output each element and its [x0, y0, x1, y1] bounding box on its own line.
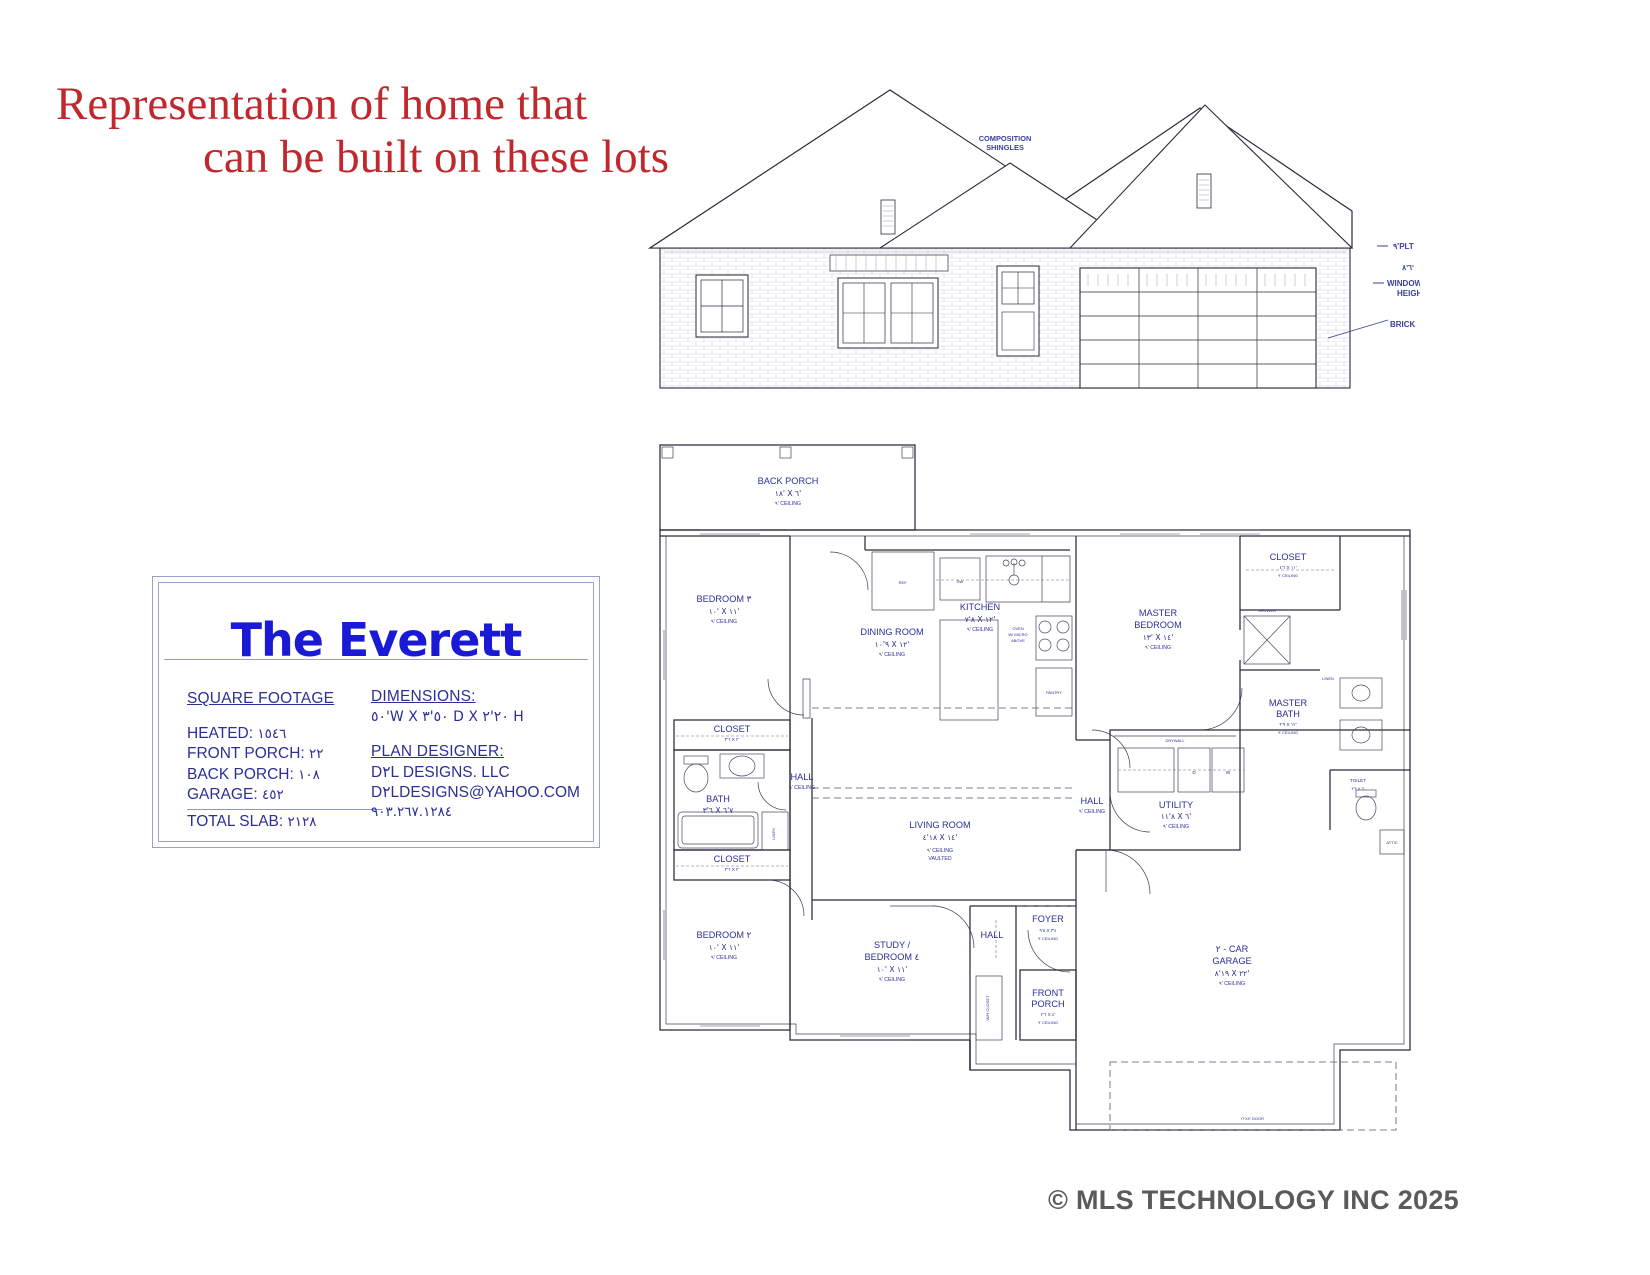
room-name-hall-mid: HALL: [981, 930, 1004, 940]
room-toilet: TOILET ٣'٣ X ٦': [1330, 770, 1410, 830]
room-back-porch: BACK PORCH ١٨' X ٦' ٩' CEILING: [660, 445, 915, 530]
room-name-hall-left: HALL: [791, 772, 814, 782]
window-left-icon: [696, 275, 748, 337]
room-utility: DRYWALL D W UTILITY ٨'١١ X ٦' ٩' CEILING: [1110, 730, 1244, 850]
room-name-study-l1: STUDY /: [874, 940, 911, 950]
room-front-porch: FRONT PORCH ٦'٢ X ٤' ٩' CEILING: [1020, 970, 1076, 1040]
room-dim-bedroom-2: ١٠' X ١١': [709, 943, 740, 952]
room-ceiling-hall-right: ٩' CEILING: [1079, 809, 1105, 815]
garage-door-label: ١٦'X٧' DOOR: [1240, 1116, 1264, 1121]
pantry-closet: PANTRY: [1036, 668, 1072, 716]
room-name-front-porch-l2: PORCH: [1031, 999, 1064, 1009]
room-ceiling-study: ٩' CEILING: [879, 977, 905, 983]
room-name-garage-l2: GARAGE: [1212, 956, 1251, 966]
area-value-heated: ١٥٤٦: [257, 726, 286, 742]
wh-closet: W/H CLOSET: [976, 976, 1002, 1040]
room-dim-mbath: ٩'٣ X ١٢': [1279, 722, 1296, 727]
mls-watermark: © MLS TECHNOLOGY INC 2025: [1048, 1185, 1459, 1216]
floor-plan-drawing: BACK PORCH ١٨' X ٦' ٩' CEILING BEDROOM ٣…: [640, 430, 1430, 1175]
square-footage-header: SQUARE FOOTAGE: [187, 689, 382, 710]
room-name-study-l2: BEDROOM ٤: [865, 952, 920, 962]
dimensions-header: DIMENSIONS:: [371, 687, 601, 708]
room-dim-toilet: ٣'٣ X ٦': [1352, 786, 1365, 791]
room-hall-mid: HALL: [970, 906, 1016, 1070]
room-name-closet-bottom: CLOSET: [714, 854, 751, 864]
room-name-closet-top: CLOSET: [714, 724, 751, 734]
plate-height-annotation: ٩'PLT: [1377, 242, 1414, 251]
shower-fixture: SHOWER: [1244, 608, 1290, 664]
area-row-front-porch: FRONT PORCH: ٢٢: [187, 744, 382, 765]
room-name-master-l1: MASTER: [1139, 608, 1178, 618]
window-header-band: [830, 255, 948, 271]
plan-designer-header: PLAN DESIGNER:: [371, 742, 601, 763]
room-master-bath: MASTER BATH ٩'٣ X ١٢' ٩' CEILING LINEN: [1240, 670, 1410, 750]
room-name-hall-right: HALL: [1081, 796, 1104, 806]
room-name-kitchen: KITCHEN: [960, 602, 1000, 612]
room-dim-bath: ٦'٣ X ٧'٦: [703, 806, 734, 815]
room-name-bath: BATH: [706, 794, 730, 804]
room-foyer: FOYER ٥'٩ X ٤'٣ ٩' CEILING: [1016, 906, 1076, 972]
designer-company: D٢L DESIGNS. LLC: [371, 763, 601, 784]
shingles-label-line-2: SHINGLES: [986, 143, 1024, 152]
washer-label: W: [1226, 770, 1231, 775]
room-kitchen: REF. DW KITCHEN ٨'٧ X ١٢' ٩' CEILING OVE…: [830, 536, 1072, 716]
room-ceiling-garage: ٩' CEILING: [1219, 981, 1245, 987]
room-ceiling-living-l1: ٩' CEILING: [927, 848, 953, 854]
area-label-heated: HEATED:: [187, 725, 253, 742]
designer-email: D٢LDESIGNS@YAHOO.COM: [371, 783, 601, 804]
room-name-toilet: TOILET: [1350, 778, 1366, 783]
square-footage-column: SQUARE FOOTAGE HEATED: ١٥٤٦ FRONT PORCH:…: [187, 689, 382, 833]
dishwasher-label: DW: [957, 579, 964, 584]
room-ceiling-living-l2: VAULTED: [928, 856, 951, 862]
room-name-front-porch-l1: FRONT: [1032, 988, 1064, 998]
dryer-label: D: [1192, 770, 1196, 775]
room-ceiling-mbath: ٩' CEILING: [1278, 730, 1298, 735]
room-ceiling-front-porch: ٩' CEILING: [1038, 1020, 1058, 1025]
window-height-label-line-1: WINDOW: [1387, 279, 1420, 288]
room-name-foyer: FOYER: [1032, 914, 1064, 924]
area-row-total-slab: TOTAL SLAB: ٢١٢٨: [187, 809, 382, 833]
shower-label: SHOWER: [1258, 608, 1276, 613]
room-ceiling-bedroom-2: ٩' CEILING: [711, 955, 737, 961]
room-name-bedroom-3: BEDROOM ٣: [697, 594, 752, 604]
area-value-garage: ٤٥٢: [262, 787, 284, 803]
room-ceiling-bedroom-3: ٩' CEILING: [711, 619, 737, 625]
room-dim-back-porch: ١٨' X ٦': [775, 489, 801, 498]
room-garage: ٢ - CAR GARAGE ١٩'٨ X ٢٢' ٩' CEILING ١٦'…: [1076, 830, 1404, 1130]
refrigerator-icon: REF.: [872, 552, 934, 610]
composition-shingles-label: COMPOSITION SHINGLES: [979, 134, 1032, 152]
room-hall-left: HALL ٩' CEILING: [789, 718, 815, 1030]
room-ceiling-mb-closet: ٩' CEILING: [1278, 573, 1298, 578]
room-hall-right: HALL ٩' CEILING: [1076, 740, 1110, 850]
room-dim-garage: ١٩'٨ X ٢٢': [1215, 969, 1250, 978]
room-dim-closet-bottom: ٦'٣ X ٢': [725, 867, 740, 872]
room-name-living: LIVING ROOM: [909, 820, 970, 830]
oven-micro-label: OVEN W/ MICRO ABOVE: [1008, 626, 1027, 643]
pantry-label: PANTRY: [1046, 690, 1062, 695]
room-bedroom-2: BEDROOM ٢ ١٠' X ١١' ٩' CEILING: [697, 880, 804, 1030]
plan-name: The Everett: [159, 613, 593, 667]
room-ceiling-foyer: ٩' CEILING: [1038, 936, 1058, 941]
room-ceiling-hall-left: ٩' CEILING: [789, 785, 815, 791]
sink-fixture-icon: [720, 754, 764, 778]
room-dining-room: DINING ROOM ٩'١٠ X ١٢' ٩' CEILING: [860, 620, 998, 720]
window-center-icon: [838, 278, 938, 348]
plan-info-card: The Everett SQUARE FOOTAGE HEATED: ١٥٤٦ …: [152, 576, 600, 848]
room-dim-front-porch: ٦'٢ X ٤': [1041, 1012, 1056, 1017]
linen-label: LINEN: [771, 828, 776, 840]
area-value-back-porch: ١٠٨: [298, 767, 320, 783]
room-name-mbath-l1: MASTER: [1269, 698, 1308, 708]
room-dim-master: ١٣' X ١٤': [1143, 633, 1174, 642]
area-row-heated: HEATED: ١٥٤٦: [187, 724, 382, 745]
area-label-front-porch: FRONT PORCH:: [187, 745, 305, 762]
home-elevation-drawing: COMPOSITION SHINGLES ٩'PLT ٦'٨' WINDOW H…: [640, 70, 1420, 400]
vanity-fixture-icon: [1340, 678, 1382, 750]
room-name-bedroom-2: BEDROOM ٢: [697, 930, 752, 940]
kitchen-counter: DW: [936, 556, 1070, 602]
dimensions-designer-column: DIMENSIONS: ٥٠'W X ٥٠'٣ D X ٢٠'٢ H PLAN …: [371, 687, 601, 822]
room-dim-dining: ٩'١٠ X ١٢': [875, 640, 910, 649]
plan-info-card-inner-border: The Everett SQUARE FOOTAGE HEATED: ١٥٤٦ …: [158, 582, 594, 842]
shingles-label-line-1: COMPOSITION: [979, 134, 1032, 143]
brick-label: BRICK: [1390, 320, 1416, 329]
drywall-label-utility: DRYWALL: [1165, 738, 1185, 743]
room-name-mb-closet: CLOSET: [1270, 552, 1307, 562]
room-dim-study: ١٠' X ١١': [877, 965, 908, 974]
room-bedroom-3: BEDROOM ٣ ١٠' X ١١' ٩' CEILING: [660, 536, 810, 720]
room-ceiling-back-porch: ٩' CEILING: [775, 501, 801, 507]
room-name-garage-l1: ٢ - CAR: [1216, 944, 1249, 954]
oven-label-l1: OVEN: [1012, 626, 1023, 631]
area-value-front-porch: ٢٢: [309, 746, 324, 762]
oven-label-l2: W/ MICRO: [1008, 632, 1027, 637]
room-name-utility: UTILITY: [1159, 800, 1193, 810]
area-row-back-porch: BACK PORCH: ١٠٨: [187, 765, 382, 786]
area-label-total-slab: TOTAL SLAB:: [187, 813, 283, 830]
room-dim-foyer: ٥'٩ X ٤'٣: [1039, 928, 1057, 933]
window-height-value: ٦'٨': [1401, 263, 1414, 272]
room-name-master-l2: BEDROOM: [1134, 620, 1181, 630]
linen-label-mbath: LINEN: [1322, 676, 1334, 681]
garage-door-icon: [1080, 268, 1316, 388]
front-door-icon: [997, 266, 1039, 356]
room-name-back-porch: BACK PORCH: [758, 476, 819, 486]
area-label-back-porch: BACK PORCH:: [187, 766, 294, 783]
room-dim-bedroom-3: ١٠' X ١١': [709, 607, 740, 616]
room-ceiling-master: ٩' CEILING: [1145, 645, 1171, 651]
oven-label-l3: ABOVE: [1011, 638, 1025, 643]
wh-closet-label: W/H CLOSET: [985, 995, 990, 1020]
room-master-bedroom: MASTER BEDROOM ١٣' X ١٤' ٩' CEILING: [1076, 536, 1242, 768]
room-dim-mb-closet: ٦'٤ X ١١': [1279, 565, 1296, 570]
room-study-bedroom-4: STUDY / BEDROOM ٤ ١٠' X ١١' ٩' CEILING: [865, 906, 974, 1070]
room-ceiling-kitchen: ٩' CEILING: [967, 627, 993, 633]
bathtub-fixture-icon: [678, 812, 758, 848]
room-master-closet: CLOSET ٦'٤ X ١١' ٩' CEILING: [1240, 536, 1410, 610]
area-value-total-slab: ٢١٢٨: [288, 814, 317, 830]
room-name-mbath-l2: BATH: [1276, 709, 1300, 719]
window-height-annotation: ٦'٨' WINDOW HEIGHT: [1373, 263, 1420, 298]
refrigerator-label: REF.: [899, 580, 908, 585]
dimensions-value: ٥٠'W X ٥٠'٣ D X ٢٠'٢ H: [371, 708, 601, 727]
toilet-fixture-icon: [684, 756, 708, 792]
designer-phone: ٩٠٣.٢٦٧.١٢٨٤: [371, 804, 601, 822]
room-dim-kitchen: ٨'٧ X ١٢': [965, 615, 996, 624]
room-dim-closet-top: ٦'٣ X ٢': [725, 737, 740, 742]
room-dim-utility: ٨'١١ X ٦': [1161, 812, 1192, 821]
room-ceiling-utility: ٩' CEILING: [1163, 824, 1189, 830]
area-label-garage: GARAGE:: [187, 786, 258, 803]
gable-vent-icon: [881, 200, 895, 234]
room-name-dining: DINING ROOM: [860, 627, 923, 637]
wall-window-marks: [660, 530, 1406, 1040]
room-closet-bottom: CLOSET ٦'٣ X ٢': [674, 850, 790, 880]
room-closet-top: CLOSET ٦'٣ X ٢': [674, 720, 790, 750]
attic-access: ATTIC: [1380, 830, 1404, 854]
room-dim-living: ١٨'٤ X ١٤': [923, 833, 958, 842]
attic-label: ATTIC: [1386, 840, 1397, 845]
cooktop-icon: [1036, 616, 1072, 660]
plate-height-label: ٩'PLT: [1393, 242, 1414, 251]
window-height-label-line-2: HEIGHT: [1397, 289, 1420, 298]
area-row-garage: GARAGE: ٤٥٢: [187, 785, 382, 806]
room-ceiling-dining: ٩' CEILING: [879, 652, 905, 658]
room-living-room: LIVING ROOM ١٨'٤ X ١٤' ٩' CEILING VAULTE…: [812, 708, 1076, 920]
gable-vent-icon-2: [1197, 174, 1211, 208]
linen-closet: LINEN: [762, 812, 788, 850]
